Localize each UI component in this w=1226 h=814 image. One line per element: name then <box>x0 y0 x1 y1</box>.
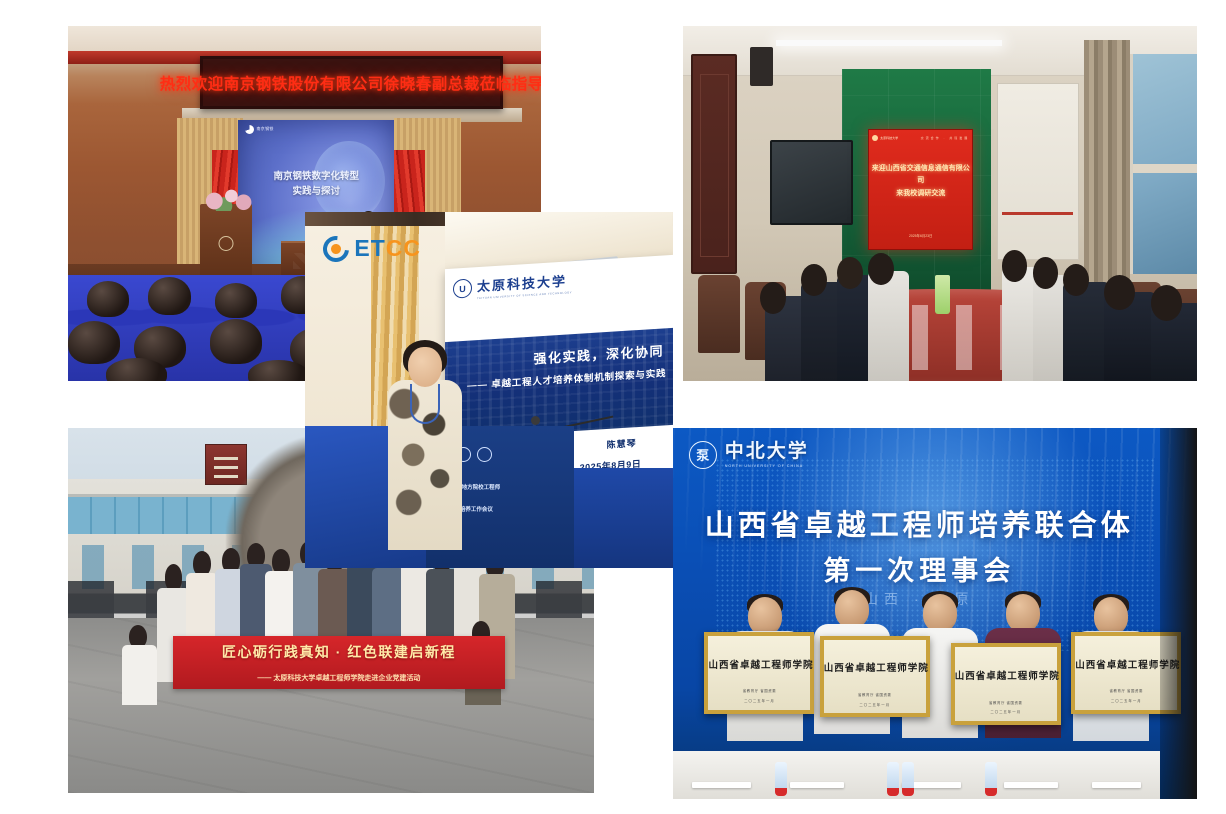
speech-presenter <box>386 340 463 568</box>
stage-backdrop-title-line1: 山西省卓越工程师培养联合体 <box>673 502 1166 544</box>
award-plaque: 山西省卓越工程师学院 省教育厅 省国资委 二〇二五年一月 <box>704 632 814 714</box>
slide-title-line2: 实践与探讨 <box>238 184 394 199</box>
plaque-title: 山西省卓越工程师学院 <box>708 657 810 671</box>
table-document <box>1004 782 1058 788</box>
water-bottle <box>775 762 787 796</box>
university-seal-icon: U <box>453 279 472 299</box>
group-photo-red-banner: 匠心砺行践真知 · 红色联建启新程 —— 太原科技大学卓越工程师学院走进企业党建… <box>173 636 504 689</box>
company-mark-icon <box>245 125 254 134</box>
meeting-attendees-right <box>683 26 1197 381</box>
person-head <box>1094 597 1128 635</box>
plaque-title: 山西省卓越工程师学院 <box>955 668 1057 682</box>
presenter-face <box>408 347 442 387</box>
slide-title: 南京钢铁数字化转型 实践与探讨 <box>238 169 394 199</box>
water-bottle <box>887 762 899 796</box>
slide-logo-text: 南京钢铁 <box>257 126 274 132</box>
photo-collage: 南京钢铁 南京钢铁数字化转型 实践与探讨 徐晓春 2025.5 热烈欢迎南京钢铁… <box>0 0 1226 814</box>
podium-logo-icon <box>477 447 492 462</box>
table-document <box>790 782 844 788</box>
person-head <box>1006 594 1040 632</box>
auditorium-led-banner: 热烈欢迎南京钢铁股份有限公司徐晓春副总裁莅临指导 <box>200 56 503 109</box>
stage-right-dark-edge <box>1160 428 1197 799</box>
etcc-mark-icon <box>318 230 354 266</box>
person-head <box>748 597 782 635</box>
auditorium-led-banner-text: 热烈欢迎南京钢铁股份有限公司徐晓春副总裁莅临指导 <box>203 59 500 106</box>
plaque-date: 二〇二五年一月 <box>824 702 926 707</box>
university-seal-icon: 泵 <box>689 441 717 469</box>
plaque-date: 二〇二五年一月 <box>955 709 1057 714</box>
slide-university-logo: U 太原科技大学 TAIYUAN UNIVERSITY OF SCIENCE A… <box>453 270 572 301</box>
banner-subline: —— 太原科技大学卓越工程师学院走进企业党建活动 <box>173 673 504 683</box>
presenter-lanyard <box>410 384 440 424</box>
table-document <box>692 782 750 788</box>
stage-front-table <box>673 751 1160 799</box>
microphone-head-icon <box>531 416 540 425</box>
etcc-wordmark: ETCC <box>354 235 421 262</box>
plaque-subtitle: 省教育厅 省国资委 <box>708 688 810 693</box>
stage-university-name: 中北大学 <box>725 442 809 461</box>
water-bottle <box>985 762 997 796</box>
award-plaque: 山西省卓越工程师学院 省教育厅 省国资委 二〇二五年一月 <box>951 643 1061 725</box>
water-bottle <box>902 762 914 796</box>
table-document <box>1092 782 1141 788</box>
banner-headline: 匠心砺行践真知 · 红色联建启新程 <box>173 642 504 662</box>
plaque-date: 二〇二五年一月 <box>708 698 810 703</box>
slide-corner-logo: 南京钢铁 <box>245 125 274 134</box>
auditorium-flower-arrangement <box>196 186 257 211</box>
person-head <box>835 590 869 628</box>
person-head <box>923 594 957 632</box>
photo-podium-speech[interactable]: ETCC U 太原科技大学 TAIYUAN UNIVERSITY OF SCIE… <box>305 212 673 568</box>
plaque-subtitle: 省教育厅 省国资委 <box>824 692 926 697</box>
etcc-logo: ETCC <box>323 235 421 262</box>
stage-university-name-en: NORTH UNIVERSITY OF CHINA <box>725 464 809 468</box>
plaque-title: 山西省卓越工程师学院 <box>824 660 926 674</box>
photo-meeting-room[interactable]: 太原科技大学 交流合作 · 共谋发展 来迎山西省交通信息通信有限公司 来我校调研… <box>683 26 1197 381</box>
auditorium-podium <box>200 204 252 282</box>
plaque-subtitle: 省教育厅 省国资委 <box>955 700 1057 705</box>
photo-blue-stage-ceremony[interactable]: 泵 中北大学 NORTH UNIVERSITY OF CHINA 山西省卓越工程… <box>673 428 1197 799</box>
stage-university-logo: 泵 中北大学 NORTH UNIVERSITY OF CHINA <box>689 441 809 469</box>
award-plaque: 山西省卓越工程师学院 省教育厅 省国资委 二〇二五年一月 <box>820 636 930 718</box>
slide-title-line1: 南京钢铁数字化转型 <box>238 169 394 184</box>
